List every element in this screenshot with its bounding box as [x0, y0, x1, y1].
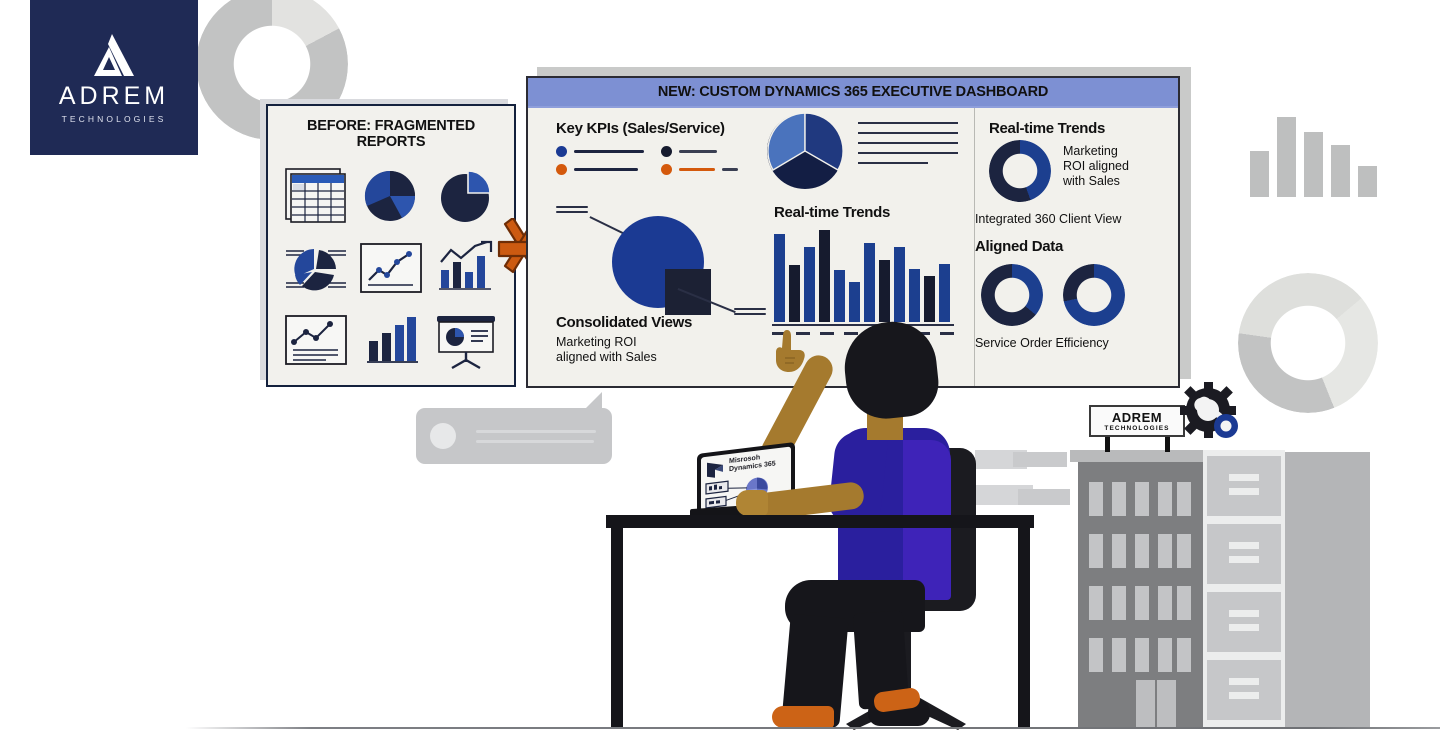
paper-stack-top-side [1013, 452, 1067, 467]
realtime-trends-caption: Marketing ROI aligned with Sales [1063, 144, 1129, 188]
chat-bubble-line-1 [476, 430, 596, 433]
kpi-dot-navy-icon [661, 146, 672, 157]
kpi-dot-orange-1-icon [556, 164, 567, 175]
office-sign-name: ADREM [1112, 410, 1162, 425]
consolidated-views-sub-2: aligned with Sales [556, 350, 692, 365]
kpi-line-4b [722, 168, 738, 170]
chat-bubble-line-2 [476, 440, 594, 443]
integrated-client-view-label: Integrated 360 Client View [975, 212, 1121, 226]
kpi-legend-orange-1 [556, 164, 661, 175]
kpi-legend-list [556, 146, 760, 175]
kpi-line-4a [679, 168, 715, 170]
chat-bubble-placeholder-icon [416, 408, 612, 464]
person-sleeve [827, 430, 888, 527]
aligned-data-donut-2 [1063, 264, 1125, 326]
middle-trends-title: Real-time Trends [774, 204, 890, 221]
desk-surface [606, 515, 1034, 528]
bar-chart-axis [772, 324, 954, 326]
dashboard-column-left: Key KPIs (Sales/Service) [528, 108, 760, 386]
adrem-triangle-logo-icon [86, 32, 142, 78]
background-bar-chart-icon [1250, 117, 1385, 197]
consolidated-views-block: Consolidated Views Marketing ROI aligned… [556, 314, 692, 365]
office-sign: ADREM TECHNOLOGIES [1089, 405, 1185, 437]
kpi-legend-blue [556, 146, 661, 157]
trends-caption-2: ROI aligned [1063, 159, 1129, 174]
realtime-trends-bar-chart [774, 230, 952, 322]
three-segment-pie-chart-icon [766, 112, 844, 190]
kpi-legend-navy [661, 146, 766, 157]
dynamics-365-logo-icon [705, 458, 727, 481]
pie-chart-icon [362, 168, 420, 224]
trends-caption-3: with Sales [1063, 174, 1129, 189]
right-trends-title: Real-time Trends [989, 120, 1178, 137]
exploded-pie-chart-icon [284, 239, 348, 297]
service-order-efficiency-label: Service Order Efficiency [975, 336, 1109, 350]
gear-wrench-settings-icon [1180, 382, 1242, 444]
kpi-line-1 [574, 150, 644, 152]
kpi-line-2 [679, 150, 717, 152]
dashboard-title: NEW: CUSTOM DYNAMICS 365 EXECUTIVE DASHB… [658, 84, 1048, 100]
before-icon-grid [278, 160, 504, 376]
dashboard-header-bar: NEW: CUSTOM DYNAMICS 365 EXECUTIVE DASHB… [528, 78, 1178, 108]
filing-cabinet-front [1203, 450, 1285, 728]
bar-chart-icon [363, 313, 419, 367]
realtime-trends-donut-chart [989, 140, 1051, 202]
office-building-door [1136, 680, 1176, 728]
infographic-canvas: ADREM TECHNOLOGIES BEFORE: FRAGMENTED RE… [0, 0, 1440, 738]
desk-leg-right [1018, 528, 1030, 728]
brand-logo-block: ADREM TECHNOLOGIES [30, 0, 198, 155]
paper-stack-bottom-side [1018, 489, 1070, 505]
person-typing-hand [736, 490, 768, 516]
floor-line [186, 727, 1440, 729]
kpi-dot-orange-2-icon [661, 164, 672, 175]
background-donut-bottom-right-icon [1238, 273, 1378, 413]
kpi-legend-orange-2 [661, 164, 766, 175]
consolidated-views-sub-1: Marketing ROI [556, 335, 692, 350]
desk-leg-left [611, 528, 623, 728]
kpi-line-3 [574, 168, 638, 170]
line-graph-framed-icon [359, 242, 423, 294]
line-graph-document-icon [284, 314, 348, 366]
consolidated-views-pie-chart [610, 210, 716, 320]
trends-caption-1: Marketing [1063, 144, 1129, 159]
kpi-dot-blue-icon [556, 146, 567, 157]
aligned-data-title: Aligned Data [975, 238, 1063, 255]
chat-bubble-avatar-icon [430, 423, 456, 449]
consolidated-views-title: Consolidated Views [556, 314, 692, 331]
laptop-brand-text: Misrosoh Dynamics 365 [729, 452, 776, 473]
bar-chart-with-trend-arrow-icon [435, 240, 497, 296]
before-panel-title: BEFORE: FRAGMENTED REPORTS [278, 118, 504, 150]
presentation-easel-icon [433, 310, 499, 370]
brand-name: ADREM [59, 84, 169, 109]
spreadsheet-table-icon [284, 167, 348, 225]
person-pointing-hand-icon [773, 328, 807, 374]
brand-subtitle: TECHNOLOGIES [62, 114, 167, 124]
aligned-data-donut-1 [981, 264, 1043, 326]
filing-cabinet-side [1284, 452, 1370, 728]
callout-lines-top [556, 206, 588, 216]
pie-chart-quarter-icon [437, 168, 495, 224]
office-sign-subtitle: TECHNOLOGIES [1104, 425, 1169, 432]
person-shoe-front [772, 706, 834, 728]
before-fragmented-reports-panel: BEFORE: FRAGMENTED REPORTS [266, 104, 516, 387]
text-placeholder-lines [858, 122, 958, 164]
key-kpis-title: Key KPIs (Sales/Service) [556, 120, 760, 137]
dashboard-column-right: Real-time Trends Marketing ROI aligned w… [974, 108, 1178, 386]
